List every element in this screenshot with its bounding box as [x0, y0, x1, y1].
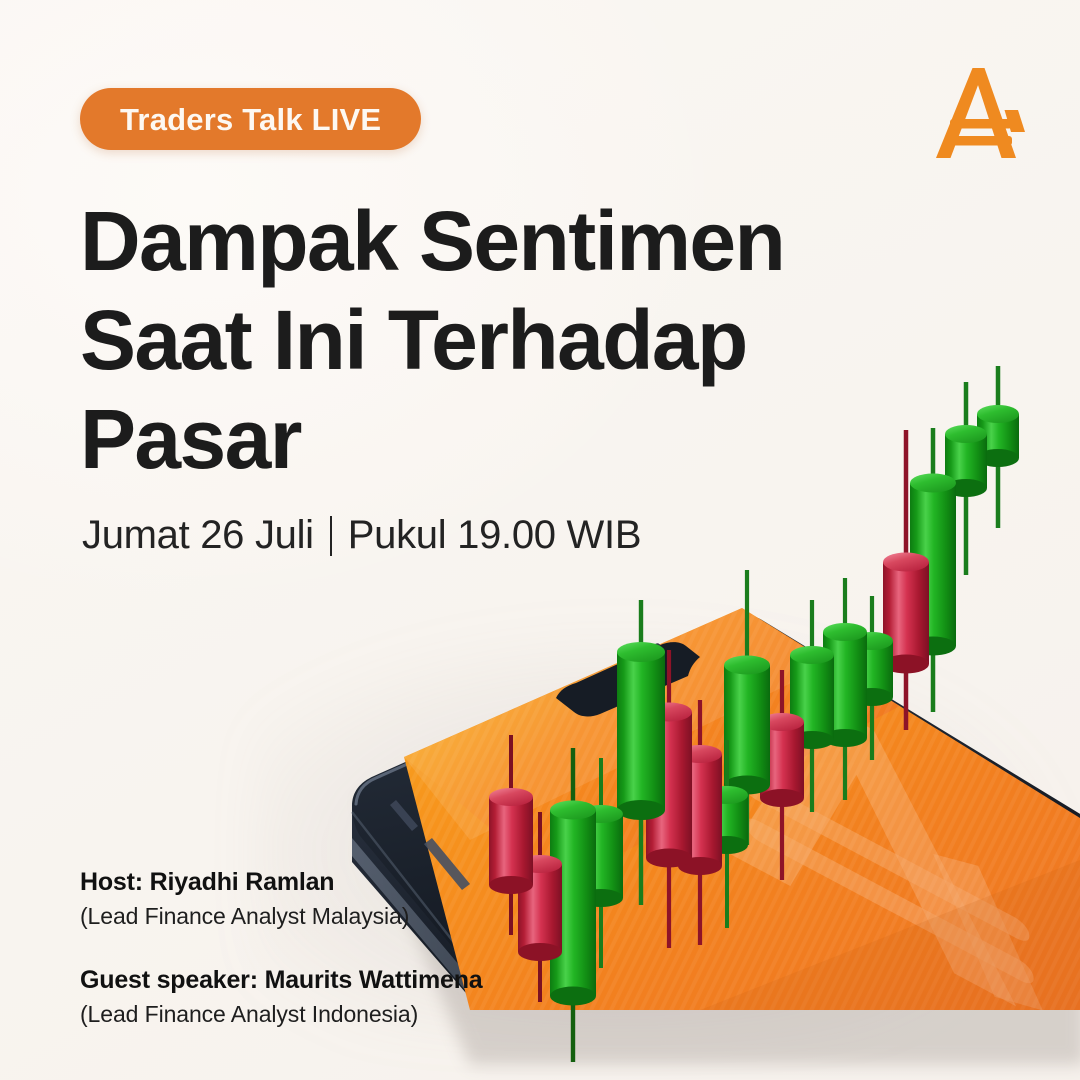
headline-line-1: Dampak Sentimen [80, 192, 840, 291]
schedule-line: Jumat 26 Juli Pukul 19.00 WIB [82, 513, 641, 558]
guest-credit: Guest speaker: Maurits Wattimena (Lead F… [80, 964, 483, 1030]
live-badge-label: Traders Talk LIVE [120, 104, 381, 135]
schedule-date: Jumat 26 Juli [82, 513, 314, 558]
host-role: (Lead Finance Analyst Malaysia) [80, 900, 483, 932]
host-credit: Host: Riyadhi Ramlan (Lead Finance Analy… [80, 866, 483, 932]
page-title: Dampak Sentimen Saat Ini Terhadap Pasar [80, 192, 840, 489]
brand-logo [928, 62, 1032, 164]
guest-name: Guest speaker: Maurits Wattimena [80, 964, 483, 998]
headline-line-3: Pasar [80, 390, 840, 489]
guest-role: (Lead Finance Analyst Indonesia) [80, 998, 483, 1030]
host-name: Host: Riyadhi Ramlan [80, 866, 483, 900]
schedule-time: Pukul 19.00 WIB [348, 513, 641, 558]
credits-block: Host: Riyadhi Ramlan (Lead Finance Analy… [80, 866, 483, 1030]
promo-poster: Traders Talk LIVE Dampak Sentimen Saat I… [0, 0, 1080, 1080]
headline-line-2: Saat Ini Terhadap [80, 291, 840, 390]
live-badge: Traders Talk LIVE [80, 88, 421, 150]
ascendex-a-logo-icon [928, 62, 1032, 164]
schedule-separator [330, 516, 332, 556]
